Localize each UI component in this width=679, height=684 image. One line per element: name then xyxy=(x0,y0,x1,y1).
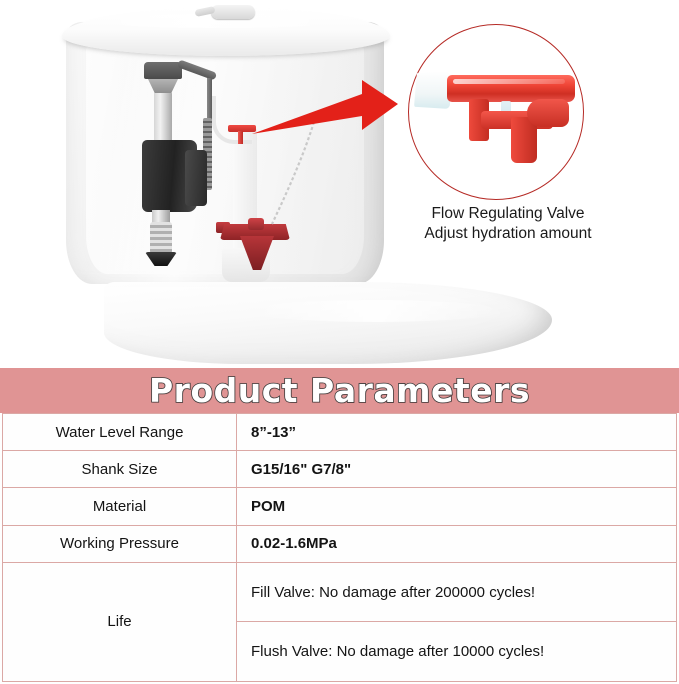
param-label-life: Life xyxy=(3,562,237,681)
toilet-bowl xyxy=(104,282,552,364)
valve-callout-text: Flow Regulating Valve Adjust hydration a… xyxy=(408,204,608,245)
product-photo-area: Flow Regulating Valve Adjust hydration a… xyxy=(0,0,679,368)
valve-adjust-lever xyxy=(527,99,569,127)
param-value-life-flush-valve: Flush Valve: No damage after 10000 cycle… xyxy=(237,622,677,682)
param-value-water-level-range: 8”-13” xyxy=(237,414,677,451)
callout-line-1: Flow Regulating Valve xyxy=(408,204,608,224)
param-value-life-fill-valve: Fill Valve: No damage after 200000 cycle… xyxy=(237,562,677,622)
param-value-working-pressure: 0.02-1.6MPa xyxy=(237,525,677,562)
product-infographic: Flow Regulating Valve Adjust hydration a… xyxy=(0,0,679,684)
table-row: Shank Size G15/16" G7/8" xyxy=(3,451,677,488)
product-parameters-banner: Product Parameters xyxy=(0,368,679,413)
table-row: Material POM xyxy=(3,488,677,525)
fill-valve-float-side xyxy=(185,150,207,206)
param-label-water-level-range: Water Level Range xyxy=(3,414,237,451)
fill-valve-refill-tube xyxy=(212,96,252,144)
toilet-bowl-highlight xyxy=(250,300,500,322)
param-value-shank-size: G15/16" G7/8" xyxy=(237,451,677,488)
magnified-valve-circle xyxy=(408,24,584,200)
fill-valve-bellows xyxy=(150,222,172,254)
callout-line-2: Adjust hydration amount xyxy=(408,224,608,244)
valve-highlight xyxy=(453,79,565,84)
pointer-arrow-icon xyxy=(250,78,400,146)
product-parameters-table: Water Level Range 8”-13” Shank Size G15/… xyxy=(2,413,677,682)
fill-valve-cap xyxy=(144,62,182,79)
param-label-shank-size: Shank Size xyxy=(3,451,237,488)
banner-title: Product Parameters xyxy=(149,371,530,410)
valve-white-seal xyxy=(414,71,450,109)
flush-handle xyxy=(211,5,255,19)
table-row: Water Level Range 8”-13” xyxy=(3,414,677,451)
flow-regulating-valve-stem xyxy=(238,131,243,144)
table-row: Life Fill Valve: No damage after 200000 … xyxy=(3,562,677,622)
param-label-material: Material xyxy=(3,488,237,525)
param-value-material: POM xyxy=(237,488,677,525)
table-row: Working Pressure 0.02-1.6MPa xyxy=(3,525,677,562)
param-label-working-pressure: Working Pressure xyxy=(3,525,237,562)
